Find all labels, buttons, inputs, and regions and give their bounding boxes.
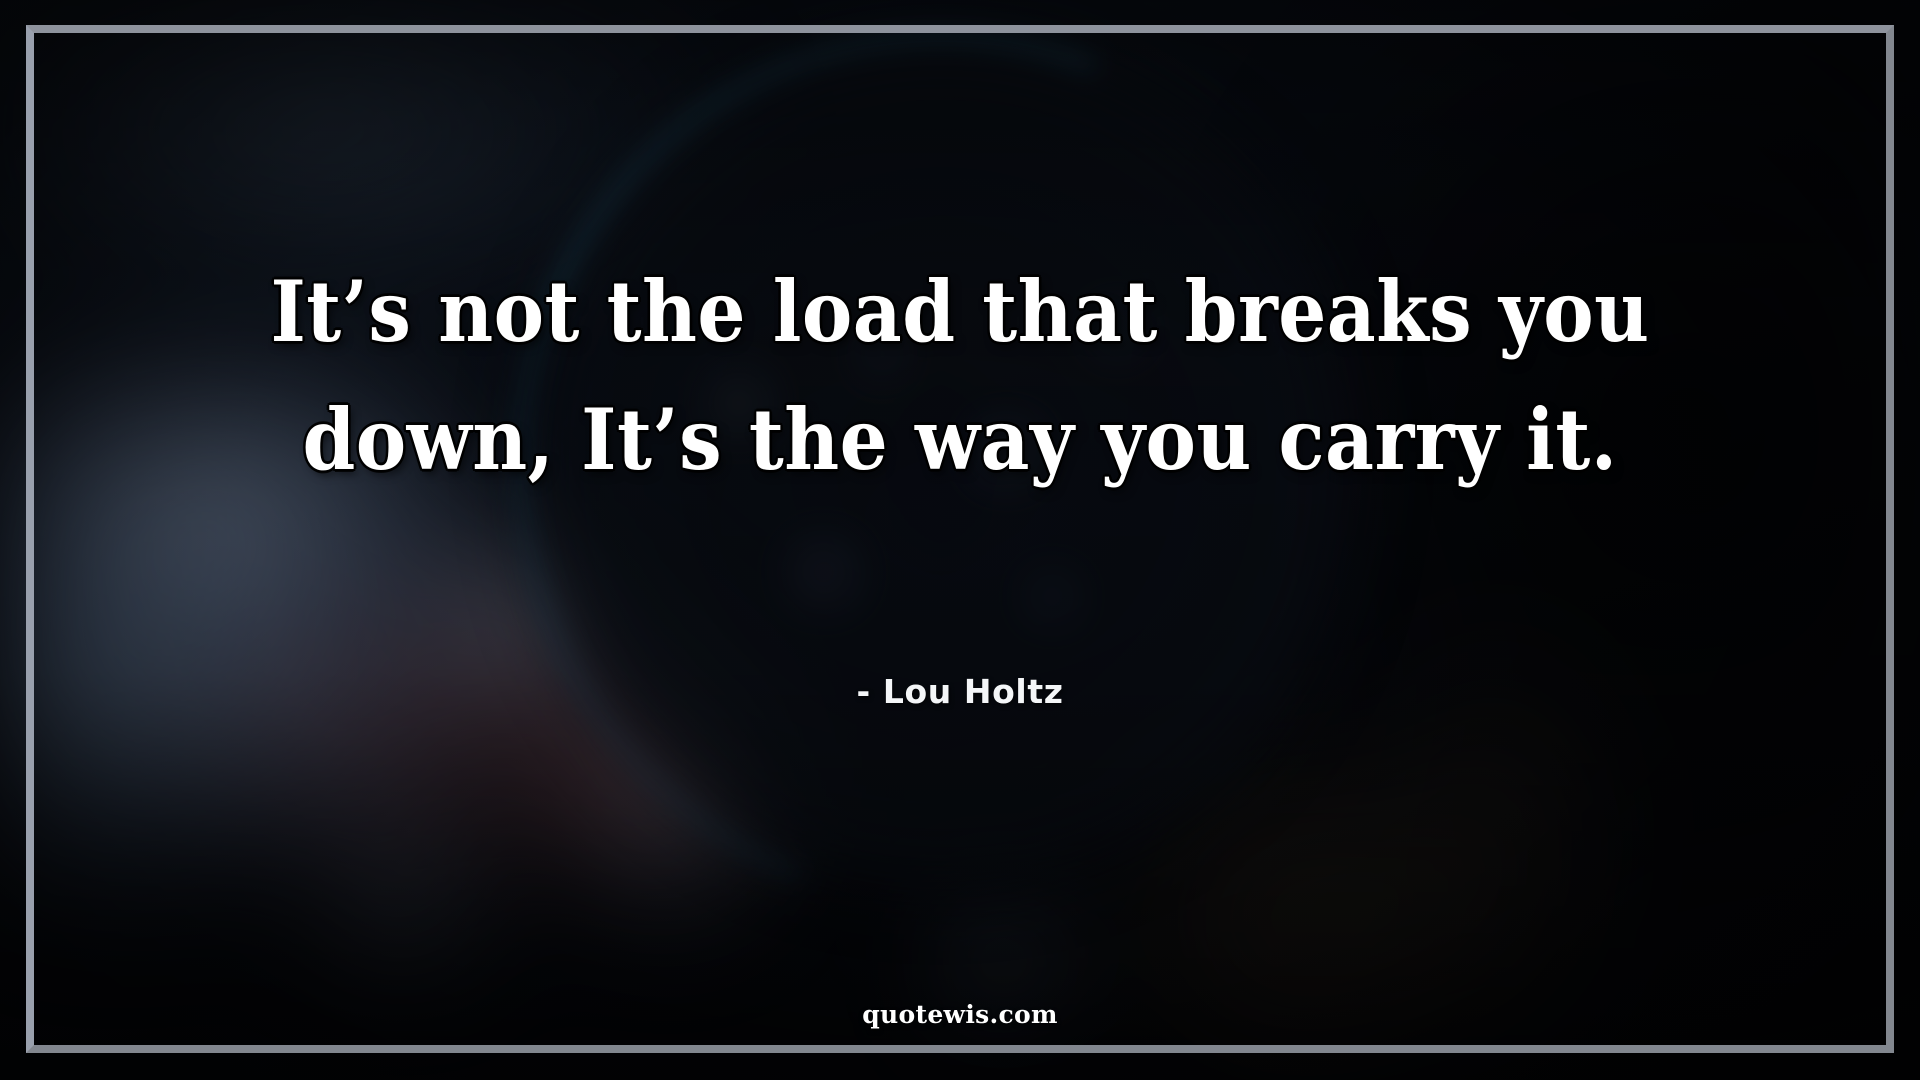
site-watermark: quotewis.com — [0, 1000, 1920, 1029]
quote-text: It’s not the load that breaks you down, … — [168, 248, 1752, 503]
quote-author: - Lou Holtz — [0, 672, 1920, 711]
quote-card: It’s not the load that breaks you down, … — [0, 0, 1920, 1080]
card-content: It’s not the load that breaks you down, … — [0, 0, 1920, 1080]
quote-block: It’s not the load that breaks you down, … — [0, 248, 1920, 503]
